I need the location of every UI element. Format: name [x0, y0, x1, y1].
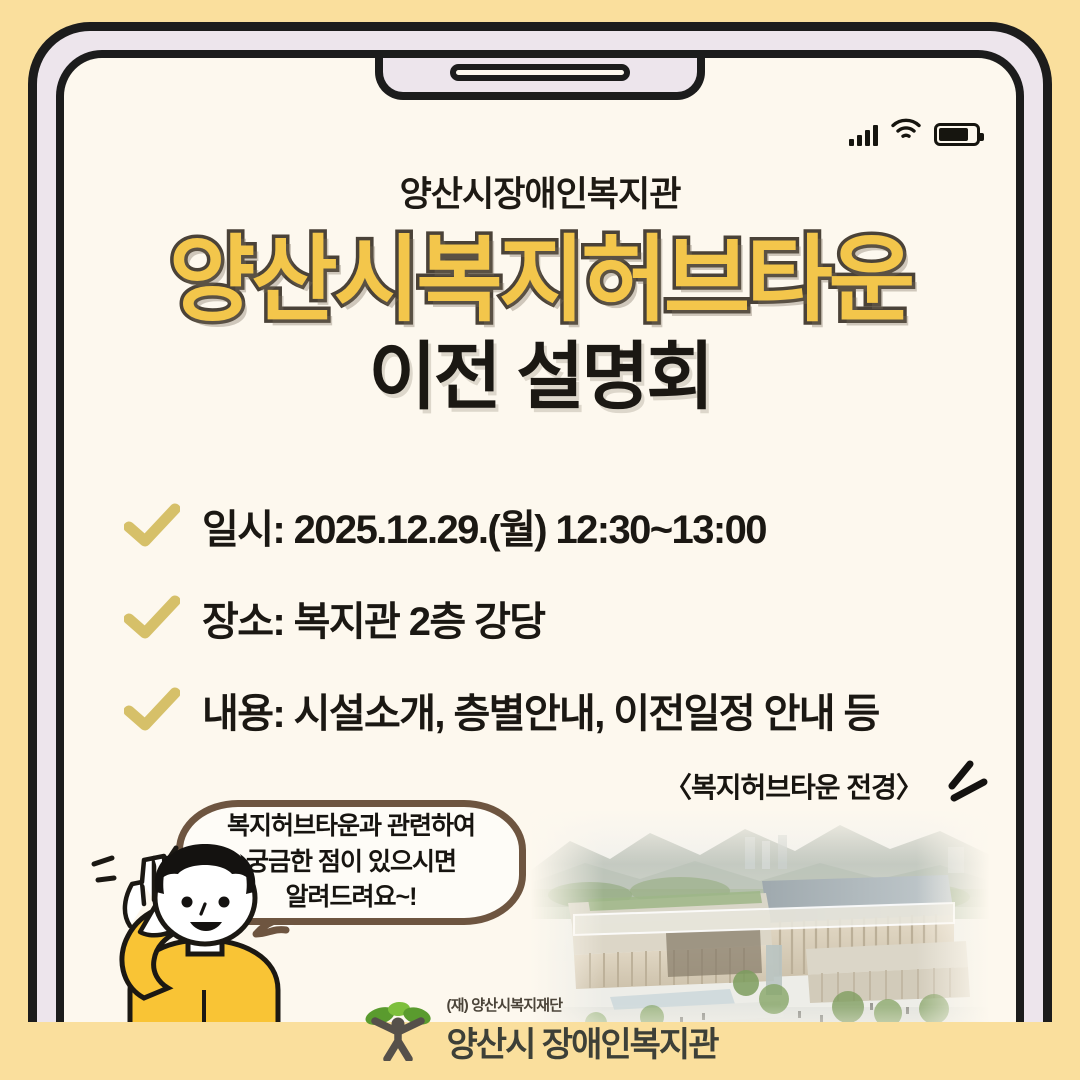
page-title-sub: 이전 설명회 — [104, 334, 976, 419]
render-caption: 〈복지허브타운 전경〉 — [664, 766, 923, 806]
foundation-name: (재) 양산시복지재단 — [447, 994, 718, 1015]
check-icon — [124, 687, 180, 733]
waving-person-illustration — [72, 840, 332, 1022]
detail-text: 장소: 복지관 2층 강당 — [202, 589, 545, 647]
page-title-main: 양산시복지허브타운 — [104, 227, 976, 332]
status-bar — [849, 118, 980, 146]
lower-section: 〈복지허브타운 전경〉 — [64, 748, 1016, 1022]
earpiece-speaker — [450, 64, 630, 81]
bubble-line-1: 복지허브타운과 관련하여 — [227, 812, 475, 842]
phone-notch — [375, 50, 705, 100]
footer-text-block: (재) 양산시복지재단 양산시 장애인복지관 — [447, 994, 718, 1066]
detail-text: 내용: 시설소개, 층별안내, 이전일정 안내 등 — [202, 681, 879, 739]
building-render-image — [530, 811, 990, 1022]
center-name: 양산시 장애인복지관 — [447, 1017, 718, 1066]
detail-text: 일시: 2025.12.29.(월) 12:30~13:00 — [202, 497, 766, 555]
organization-name: 양산시장애인복지관 — [104, 166, 976, 217]
list-item: 일시: 2025.12.29.(월) 12:30~13:00 — [124, 497, 976, 555]
wifi-icon — [891, 118, 921, 146]
emphasis-dashes-icon — [936, 756, 1006, 808]
battery-icon — [934, 123, 980, 146]
phone-frame: 양산시장애인복지관 양산시복지허브타운 이전 설명회 일시: 2025.12.2… — [28, 22, 1052, 1022]
tree-person-logo-icon — [363, 999, 433, 1061]
list-item: 장소: 복지관 2층 강당 — [124, 589, 976, 647]
check-icon — [124, 503, 180, 549]
check-icon — [124, 595, 180, 641]
detail-list: 일시: 2025.12.29.(월) 12:30~13:00 장소: 복지관 2… — [104, 497, 976, 739]
signal-bars-icon — [849, 124, 878, 146]
phone-screen: 양산시장애인복지관 양산시복지허브타운 이전 설명회 일시: 2025.12.2… — [56, 50, 1024, 1022]
list-item: 내용: 시설소개, 층별안내, 이전일정 안내 등 — [124, 681, 976, 739]
